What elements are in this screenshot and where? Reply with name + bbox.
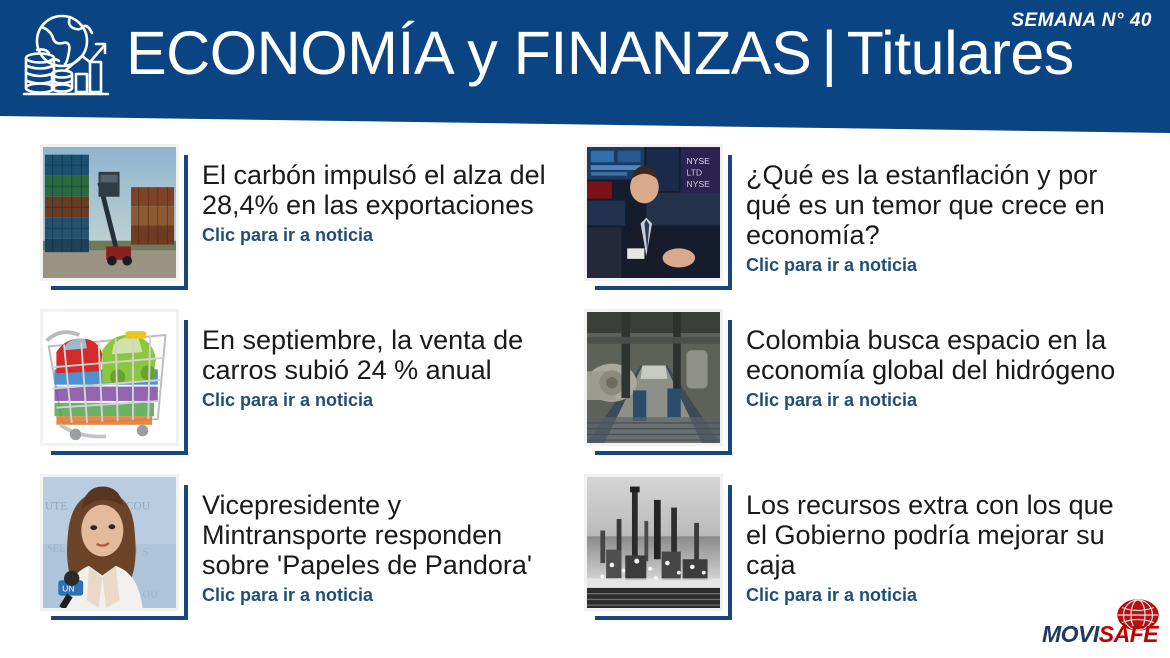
- news-title-2: ¿Qué es la estanflación y por qué es un …: [746, 160, 1129, 250]
- news-link-5[interactable]: Clic para ir a noticia: [202, 584, 373, 606]
- page-title: ECONOMÍA y FINANZAS|Titulares: [126, 14, 1074, 92]
- news-item-5[interactable]: UTE ITY COU SEL S OU: [40, 474, 570, 620]
- news-text-1: El carbón impulsó el alza del 28,4% en l…: [202, 144, 570, 246]
- news-item-1[interactable]: El carbón impulsó el alza del 28,4% en l…: [40, 144, 570, 290]
- news-title-4: Colombia busca espacio en la economía gl…: [746, 325, 1129, 385]
- news-text-5: Vicepresidente y Mintransporte responden…: [202, 474, 570, 606]
- news-item-4[interactable]: Colombia busca espacio en la economía gl…: [584, 309, 1129, 455]
- week-number-label: SEMANA N° 40: [1011, 10, 1152, 32]
- news-thumbnail-4[interactable]: [584, 309, 732, 455]
- page-title-main: ECONOMÍA y FINANZAS: [126, 19, 811, 87]
- svg-text:SEL: SEL: [47, 544, 66, 555]
- logo-safe-text: SAFE: [1099, 621, 1158, 647]
- news-title-1: El carbón impulsó el alza del 28,4% en l…: [202, 160, 570, 220]
- page-title-separator: |: [811, 19, 846, 87]
- news-text-6: Los recursos extra con los que el Gobier…: [746, 474, 1129, 606]
- news-title-5: Vicepresidente y Mintransporte responden…: [202, 490, 570, 580]
- news-item-3[interactable]: En septiembre, la venta de carros subió …: [40, 309, 570, 455]
- news-text-2: ¿Qué es la estanflación y por qué es un …: [746, 144, 1129, 276]
- news-thumbnail-6[interactable]: [584, 474, 732, 620]
- news-link-6[interactable]: Clic para ir a noticia: [746, 584, 917, 606]
- oil-refinery-night-bw-photo: [584, 474, 723, 611]
- movisafe-logo: MOVISAFE: [1042, 598, 1162, 650]
- news-text-3: En septiembre, la venta de carros subió …: [202, 309, 570, 411]
- svg-text:UTE: UTE: [45, 501, 67, 513]
- svg-text:S: S: [143, 547, 149, 558]
- news-link-4[interactable]: Clic para ir a noticia: [746, 389, 917, 411]
- news-thumbnail-5[interactable]: UTE ITY COU SEL S OU: [40, 474, 188, 620]
- news-link-2[interactable]: Clic para ir a noticia: [746, 254, 917, 276]
- svg-text:OU: OU: [143, 589, 159, 600]
- svg-text:NYSE: NYSE: [687, 179, 711, 189]
- news-thumbnail-2[interactable]: NYSE LTD NYSE: [584, 144, 732, 290]
- news-title-3: En septiembre, la venta de carros subió …: [202, 325, 570, 385]
- globe-coins-chart-icon: [18, 12, 114, 104]
- stock-exchange-trader-photo: NYSE LTD NYSE: [584, 144, 723, 281]
- news-thumbnail-1[interactable]: [40, 144, 188, 290]
- page-header: ECONOMÍA y FINANZAS|Titulares SEMANA N° …: [0, 0, 1170, 134]
- news-thumbnail-3[interactable]: [40, 309, 188, 455]
- logo-movi-text: MOVI: [1042, 621, 1099, 647]
- svg-text:LTD: LTD: [687, 168, 703, 178]
- news-grid: El carbón impulsó el alza del 28,4% en l…: [0, 134, 1170, 658]
- shipping-containers-crane-photo: [40, 144, 179, 281]
- svg-text:NYSE: NYSE: [687, 156, 711, 166]
- news-link-1[interactable]: Clic para ir a noticia: [202, 224, 373, 246]
- news-link-3[interactable]: Clic para ir a noticia: [202, 389, 373, 411]
- industrial-plant-pipes-photo: [584, 309, 723, 446]
- shopping-cart-toy-cars-photo: [40, 309, 179, 446]
- vicepresident-press-conference-photo: UTE ITY COU SEL S OU: [40, 474, 179, 611]
- movisafe-wordmark: MOVISAFE: [1042, 621, 1158, 648]
- news-item-2[interactable]: NYSE LTD NYSE ¿Q: [584, 144, 1129, 290]
- news-title-6: Los recursos extra con los que el Gobier…: [746, 490, 1129, 580]
- news-text-4: Colombia busca espacio en la economía gl…: [746, 309, 1129, 411]
